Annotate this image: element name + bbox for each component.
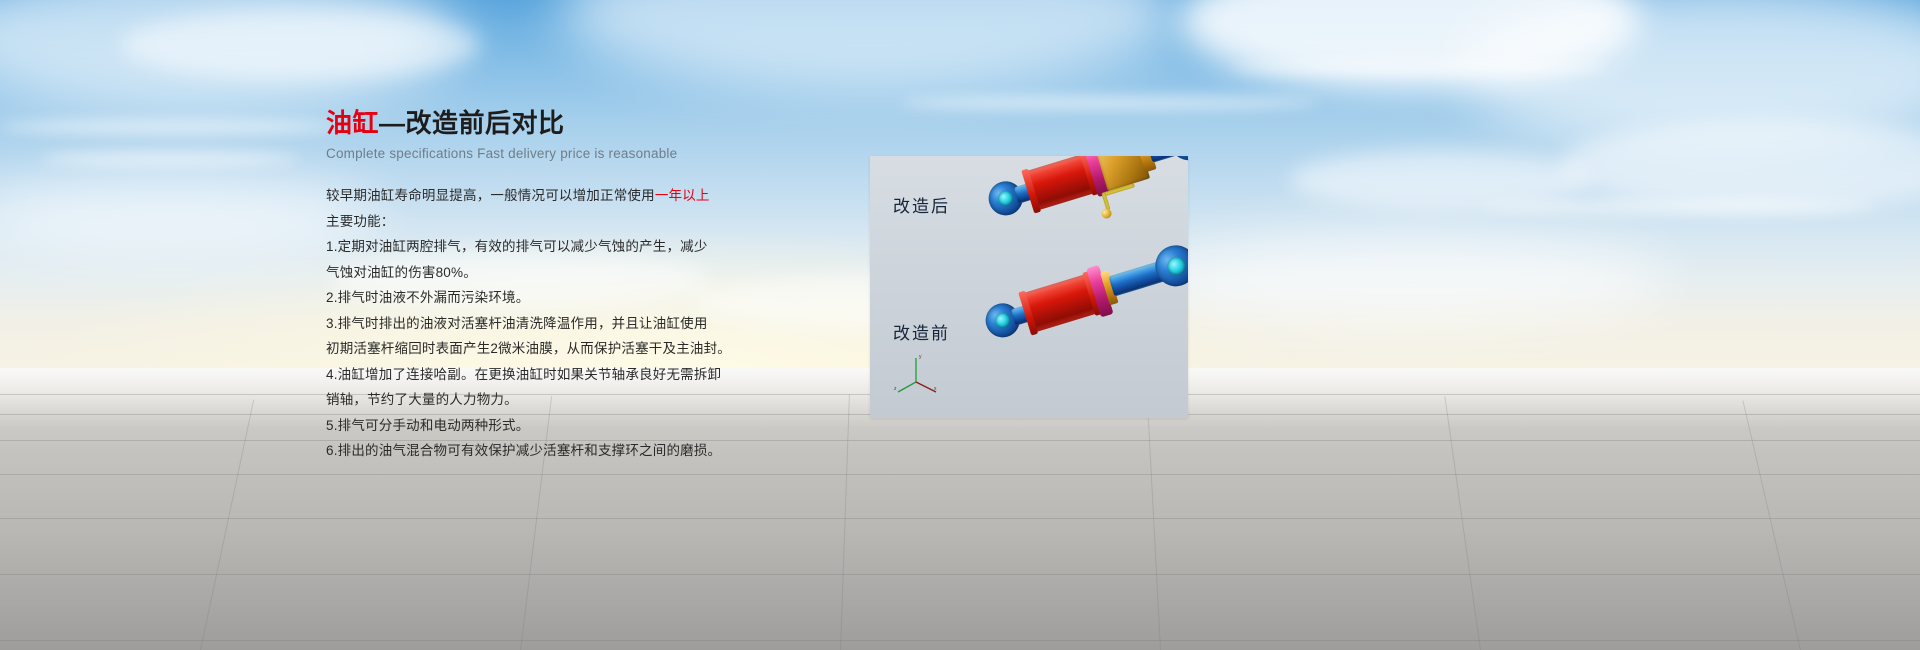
pavement-shading [0, 530, 1920, 650]
page-title: 油缸—改造前后对比 [326, 106, 746, 140]
cloud-streak [900, 96, 1320, 110]
cloud-shape [1150, 235, 1670, 325]
body-text: 5.排气可分手动和电动两种形式。 [326, 418, 529, 433]
body-text: 主要功能： [326, 214, 395, 229]
cylinder-rear-bore [993, 311, 1012, 330]
body-text: 3.排气时排出的油液对活塞杆油清洗降温作用，并且让油缸使用 [326, 316, 708, 331]
body-text: 气蚀对油缸的伤害80%。 [326, 265, 477, 280]
body-text: 6.排出的油气混合物可有效保护减少活塞杆和支撑环之间的磨损。 [326, 443, 721, 458]
svg-text:x: x [934, 386, 937, 392]
body-line: 6.排出的油气混合物可有效保护减少活塞杆和支撑环之间的磨损。 [326, 438, 746, 464]
body-line: 3.排气时排出的油液对活塞杆油清洗降温作用，并且让油缸使用 [326, 311, 746, 337]
body-highlight: 一年以上 [655, 188, 710, 203]
pavement-line-h [0, 474, 1920, 475]
cylinder-rear-bore [996, 189, 1015, 208]
bleed-port-lower [1100, 207, 1112, 219]
body-line: 较早期油缸寿命明显提高，一般情况可以增加正常使用一年以上 [326, 183, 746, 209]
title-rest: —改造前后对比 [379, 108, 565, 138]
cylinder-front-bore [1165, 255, 1187, 277]
label-after-modification: 改造后 [893, 192, 950, 217]
body-text: 较早期油缸寿命明显提高，一般情况可以增加正常使用 [326, 188, 655, 203]
cloud-streak [40, 152, 300, 166]
body-text: 初期活塞杆缩回时表面产生2微米油膜，从而保护活塞干及主油封。 [326, 341, 731, 356]
pavement-line-h [0, 440, 1920, 441]
body-text: 1.定期对油缸两腔排气，有效的排气可以减少气蚀的产生，减少 [326, 239, 708, 254]
body-text: 销轴，节约了大量的人力物力。 [326, 392, 518, 407]
feature-list: 较早期油缸寿命明显提高，一般情况可以增加正常使用一年以上 主要功能： 1.定期对… [326, 183, 746, 464]
label-before-modification: 改造前 [893, 319, 950, 344]
cloud-streak [0, 120, 340, 134]
body-text: 4.油缸增加了连接哈副。在更换油缸时如果关节轴承良好无需拆卸 [326, 367, 721, 382]
body-line: 2.排气时油液不外漏而污染环境。 [326, 285, 746, 311]
page-subtitle: Complete specifications Fast delivery pr… [326, 146, 746, 161]
body-line: 销轴，节约了大量的人力物力。 [326, 387, 746, 413]
body-line: 4.油缸增加了连接哈副。在更换油缸时如果关节轴承良好无需拆卸 [326, 362, 746, 388]
body-line: 初期活塞杆缩回时表面产生2微米油膜，从而保护活塞干及主油封。 [326, 336, 746, 362]
promo-banner: 油缸—改造前后对比 Complete specifications Fast d… [0, 0, 1920, 650]
body-line: 气蚀对油缸的伤害80%。 [326, 260, 746, 286]
cloud-streak [1230, 60, 1610, 74]
banner-copy: 油缸—改造前后对比 Complete specifications Fast d… [326, 106, 746, 464]
product-illustration-panel: 改造后 改造前 [870, 156, 1188, 418]
svg-text:y: y [919, 354, 922, 360]
body-line: 1.定期对油缸两腔排气，有效的排气可以减少气蚀的产生，减少 [326, 234, 746, 260]
body-line: 5.排气可分手动和电动两种形式。 [326, 413, 746, 439]
axis-triad-gizmo: y z x [894, 352, 940, 394]
cloud-shape [120, 10, 480, 80]
cloud-streak [1480, 200, 1880, 214]
pavement-line-h [0, 518, 1920, 519]
body-text: 2.排气时油液不外漏而污染环境。 [326, 290, 529, 305]
body-line: 主要功能： [326, 209, 746, 235]
svg-text:z: z [894, 386, 897, 392]
axis-triad-icon: y z x [894, 352, 940, 394]
title-highlight: 油缸 [326, 108, 379, 138]
